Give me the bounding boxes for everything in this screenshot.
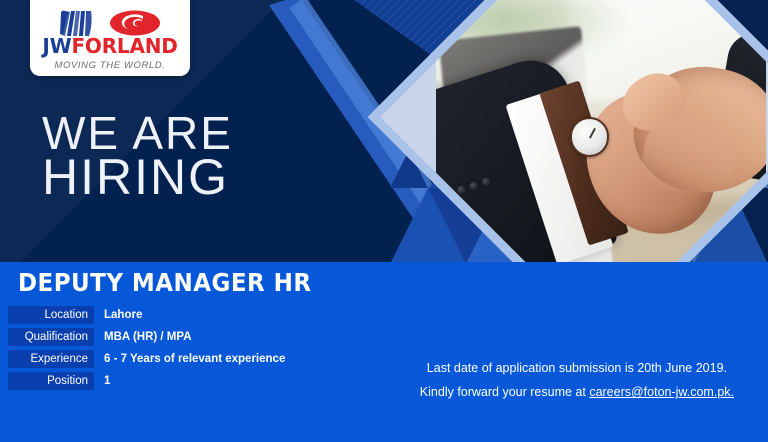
photo-clip [436,0,766,264]
job-title: DEPUTY MANAGER HR [18,268,312,297]
table-row: Qualification MBA (HR) / MPA [8,328,285,346]
handshake-photo [436,0,766,264]
company-logo: JWFORLAND MOVING THE WORLD. [30,0,190,76]
forland-swoosh-icon [109,10,161,36]
instruction-text: Kindly forward your resume at [420,385,590,399]
job-details-table: Location Lahore Qualification MBA (HR) /… [8,306,285,394]
detail-value-qualification: MBA (HR) / MPA [104,331,192,343]
headline-line-2: HIRING [42,154,233,200]
table-row: Experience 6 - 7 Years of relevant exper… [8,350,285,368]
logo-tagline: MOVING THE WORLD. [30,60,190,71]
detail-value-position: 1 [104,375,110,387]
detail-label-experience: Experience [8,350,94,368]
detail-label-location: Location [8,306,94,324]
detail-label-position: Position [8,372,94,390]
jw-monogram-icon [59,9,93,37]
photo-watch-face [570,117,610,157]
logo-marks [30,0,190,38]
table-row: Position 1 [8,372,285,390]
application-instruction: Kindly forward your resume at careers@fo… [420,380,734,404]
detail-value-location: Lahore [104,309,142,321]
application-deadline: Last date of application submission is 2… [420,356,734,380]
page-title: WE ARE HIRING [42,112,233,200]
job-poster: JWFORLAND MOVING THE WORLD. WE ARE HIRIN… [0,0,768,442]
careers-email-link[interactable]: careers@foton-jw.com.pk. [589,385,734,399]
detail-label-qualification: Qualification [8,328,94,346]
headline-line-1: WE ARE [42,112,233,154]
detail-value-experience: 6 - 7 Years of relevant experience [104,353,285,365]
logo-wordmark: JWFORLAND [30,36,190,56]
contact-block: Last date of application submission is 2… [420,356,734,405]
table-row: Location Lahore [8,306,285,324]
